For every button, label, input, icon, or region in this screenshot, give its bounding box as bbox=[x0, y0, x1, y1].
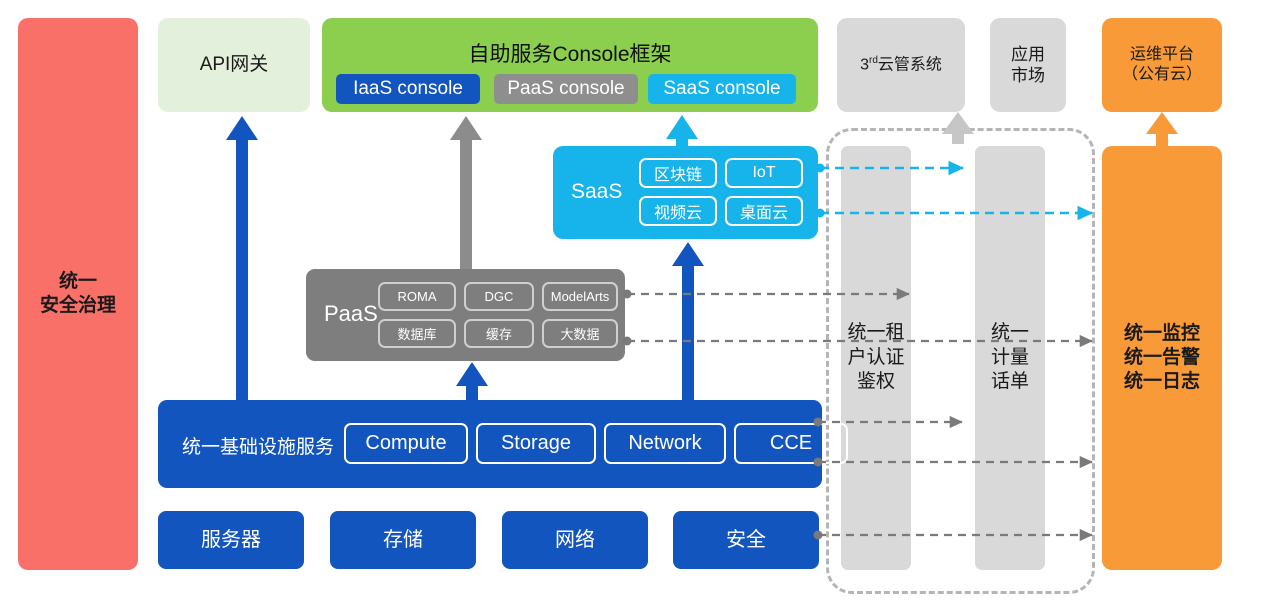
saas-console-label: SaaS console bbox=[663, 78, 780, 100]
paas-item-database-label: 数据库 bbox=[397, 324, 436, 343]
console-framework-panel: 自助服务Console框架 IaaS console PaaS console … bbox=[322, 18, 818, 112]
unified-infrastructure-bar: 统一基础设施服务 Compute Storage Network CCE bbox=[158, 400, 822, 488]
security-governance-line2: 安全治理 bbox=[40, 294, 116, 318]
metering-l3: 话单 bbox=[991, 371, 1029, 392]
arrow-infra-to-paas bbox=[456, 362, 488, 400]
resource-box-network-label: 网络 bbox=[555, 528, 595, 553]
resource-box-storage[interactable]: 存储 bbox=[330, 511, 476, 569]
paas-item-modelarts[interactable]: ModelArts bbox=[542, 282, 618, 311]
third-party-suffix: 云管系统 bbox=[878, 56, 942, 73]
unified-ops-line3: 统一日志 bbox=[1124, 370, 1200, 394]
arrow-saas-to-saas-console bbox=[666, 115, 698, 149]
paas-console-chip[interactable]: PaaS console bbox=[494, 74, 638, 104]
resource-box-storage-label: 存储 bbox=[383, 528, 423, 553]
third-party-cloud-mgmt-label: 3rd云管系统 bbox=[860, 55, 942, 75]
saas-layer-label: SaaS bbox=[571, 180, 622, 204]
arrow-ops-panel-to-ops-platform bbox=[1146, 112, 1178, 146]
metering-l2: 计量 bbox=[991, 347, 1029, 368]
paas-item-roma[interactable]: ROMA bbox=[378, 282, 456, 311]
infra-item-network[interactable]: Network bbox=[604, 423, 726, 464]
saas-item-desktop-cloud-label: 桌面云 bbox=[740, 199, 788, 223]
paas-item-bigdata-label: 大数据 bbox=[560, 324, 599, 343]
resource-box-security[interactable]: 安全 bbox=[673, 511, 819, 569]
app-market-line2: 市场 bbox=[1011, 65, 1045, 86]
saas-item-video-cloud[interactable]: 视频云 bbox=[639, 196, 717, 226]
paas-layer-block: PaaS ROMA DGC ModelArts 数据库 缓存 大数据 bbox=[306, 269, 625, 361]
iaas-console-label: IaaS console bbox=[353, 78, 463, 100]
infra-item-cce-label: CCE bbox=[770, 432, 812, 455]
infra-item-storage[interactable]: Storage bbox=[476, 423, 596, 464]
paas-item-database[interactable]: 数据库 bbox=[378, 319, 456, 348]
paas-item-dgc-label: DGC bbox=[485, 289, 514, 304]
app-market-box[interactable]: 应用 市场 bbox=[990, 18, 1066, 112]
ops-platform-line1: 运维平台 bbox=[1130, 45, 1194, 65]
console-framework-title: 自助服务Console框架 bbox=[322, 38, 818, 68]
resource-box-network[interactable]: 网络 bbox=[502, 511, 648, 569]
paas-item-cache[interactable]: 缓存 bbox=[464, 319, 534, 348]
paas-layer-label: PaaS bbox=[324, 301, 378, 327]
resource-box-server-label: 服务器 bbox=[201, 528, 261, 553]
saas-item-desktop-cloud[interactable]: 桌面云 bbox=[725, 196, 803, 226]
security-governance-panel: 统一 安全治理 bbox=[18, 18, 138, 570]
infra-item-compute[interactable]: Compute bbox=[344, 423, 468, 464]
paas-item-modelarts-label: ModelArts bbox=[551, 289, 610, 304]
resource-box-security-label: 安全 bbox=[726, 528, 766, 553]
ops-platform-public-cloud-box[interactable]: 运维平台 （公有云） bbox=[1102, 18, 1222, 112]
unified-tenant-auth-column: 统一租户认证鉴权 bbox=[841, 146, 911, 570]
saas-item-iot-label: IoT bbox=[752, 164, 775, 182]
infra-item-compute-label: Compute bbox=[365, 432, 446, 455]
paas-item-roma-label: ROMA bbox=[398, 289, 437, 304]
third-party-sup: rd bbox=[869, 55, 878, 66]
tenant-auth-l1: 统一租 bbox=[847, 322, 904, 343]
arrow-infra-to-api-gateway bbox=[226, 116, 258, 400]
saas-item-iot[interactable]: IoT bbox=[725, 158, 803, 188]
paas-item-bigdata[interactable]: 大数据 bbox=[542, 319, 618, 348]
infra-item-network-label: Network bbox=[628, 432, 701, 455]
resource-box-server[interactable]: 服务器 bbox=[158, 511, 304, 569]
unified-ops-line1: 统一监控 bbox=[1124, 322, 1200, 346]
diagram-canvas: 统一 安全治理 API网关 自助服务Console框架 IaaS console… bbox=[0, 0, 1265, 605]
unified-ops-panel: 统一监控 统一告警 统一日志 bbox=[1102, 146, 1222, 570]
infra-item-cce[interactable]: CCE bbox=[734, 423, 848, 464]
paas-item-cache-label: 缓存 bbox=[486, 324, 512, 343]
unified-metering-label: 统一计量话单 bbox=[991, 321, 1029, 395]
unified-tenant-auth-label: 统一租户认证鉴权 bbox=[847, 321, 904, 395]
saas-item-video-cloud-label: 视频云 bbox=[654, 199, 702, 223]
unified-ops-line2: 统一告警 bbox=[1124, 346, 1200, 370]
iaas-console-chip[interactable]: IaaS console bbox=[336, 74, 480, 104]
unified-infrastructure-label: 统一基础设施服务 bbox=[182, 432, 334, 459]
third-party-prefix: 3 bbox=[860, 56, 869, 73]
app-market-line1: 应用 bbox=[1011, 44, 1045, 65]
saas-item-blockchain-label: 区块链 bbox=[654, 161, 702, 185]
security-governance-line1: 统一 bbox=[59, 270, 97, 294]
third-party-cloud-mgmt-box[interactable]: 3rd云管系统 bbox=[837, 18, 965, 112]
paas-console-label: PaaS console bbox=[507, 78, 624, 100]
metering-l1: 统一 bbox=[991, 322, 1029, 343]
api-gateway-box[interactable]: API网关 bbox=[158, 18, 310, 112]
tenant-auth-l2: 户认证 bbox=[847, 347, 904, 368]
infra-item-storage-label: Storage bbox=[501, 432, 571, 455]
arrow-paas-to-console bbox=[450, 116, 482, 269]
saas-layer-block: SaaS 区块链 IoT 视频云 桌面云 bbox=[553, 146, 818, 239]
unified-metering-column: 统一计量话单 bbox=[975, 146, 1045, 570]
ops-platform-line2: （公有云） bbox=[1122, 65, 1202, 85]
saas-item-blockchain[interactable]: 区块链 bbox=[639, 158, 717, 188]
arrow-infra-to-saas bbox=[672, 242, 704, 400]
api-gateway-label: API网关 bbox=[200, 53, 269, 77]
tenant-auth-l3: 鉴权 bbox=[857, 371, 895, 392]
saas-console-chip[interactable]: SaaS console bbox=[648, 74, 796, 104]
paas-item-dgc[interactable]: DGC bbox=[464, 282, 534, 311]
